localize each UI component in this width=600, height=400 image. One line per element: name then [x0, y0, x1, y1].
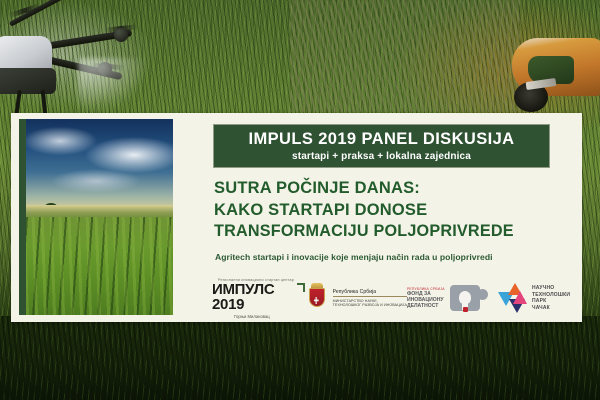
- impuls-wordmark: ИМПУЛС 2019: [212, 282, 295, 312]
- ministry-text: Република Србија МИНИСТАРСТВО НАУКЕ, ТЕХ…: [333, 289, 407, 307]
- ntp-line-4: ЧАЧАК: [532, 305, 570, 312]
- ministry-line-3: ТЕХНОЛОШКОГ РАЗВОЈА И ИНОВАЦИЈА: [333, 303, 407, 307]
- spraying-drone-icon: [0, 6, 154, 106]
- drone-tank: [0, 68, 56, 94]
- headline-line-2: KAKO STARTAPI DONOSE: [214, 199, 564, 221]
- fund-text: РЕПУБЛИКА СРБИЈА ФОНД ЗА ИНОВАЦИОНУ ДЕЛА…: [407, 287, 445, 310]
- ntp-triangles-icon: [498, 283, 528, 313]
- logo-innovation-fund: РЕПУБЛИКА СРБИЈА ФОНД ЗА ИНОВАЦИОНУ ДЕЛА…: [407, 283, 498, 313]
- puzzle-knob-icon: [477, 289, 488, 300]
- logo-ministry-of-science: Република Србија МИНИСТАРСТВО НАУКЕ, ТЕХ…: [305, 283, 407, 313]
- serbia-coat-of-arms-icon: [305, 283, 329, 313]
- red-square-icon: [463, 307, 468, 312]
- drone-motor: [114, 28, 128, 42]
- poster-card: IMPULS 2019 PANEL DISKUSIJA startapi + p…: [11, 113, 582, 322]
- headline: SUTRA POČINJE DANAS: KAKO STARTAPI DONOS…: [214, 177, 564, 243]
- tagline: Agritech startapi i inovacije koje menja…: [215, 252, 493, 262]
- fund-line-3: ДЕЛАТНОСТ: [407, 303, 445, 309]
- sponsor-logo-strip: Регионални иновациони стартап центар ИМП…: [208, 276, 576, 320]
- photo-crop-rows: [26, 217, 173, 315]
- headline-line-3: TRANSFORMACIJU POLJOPRIVREDE: [214, 221, 564, 243]
- logo-ntp-cacak: НАУЧНО ТЕХНОЛОШКИ ПАРК ЧАЧАК: [498, 283, 576, 313]
- impuls-city-text: Горњи Милановац: [234, 314, 270, 319]
- ntp-text: НАУЧНО ТЕХНОЛОШКИ ПАРК ЧАЧАК: [532, 285, 570, 311]
- drone-spray-mist: [78, 58, 148, 114]
- poster-content: IMPULS 2019 PANEL DISKUSIJA startapi + p…: [202, 113, 582, 322]
- banner-subtitle: startapi + praksa + lokalna zajednica: [292, 151, 471, 162]
- headline-line-1: SUTRA POČINJE DANAS:: [214, 177, 564, 199]
- foreground-grass: [0, 316, 600, 400]
- impuls-corner-icon: [297, 283, 305, 292]
- banner-title: IMPULS 2019 PANEL DISKUSIJA: [248, 131, 514, 148]
- event-banner: IMPULS 2019 PANEL DISKUSIJA startapi + p…: [213, 124, 550, 168]
- impuls-wordmark-row: ИМПУЛС 2019: [212, 282, 305, 312]
- field-photo: [19, 119, 173, 315]
- logo-impuls-2019: Регионални иновациони стартап центар ИМП…: [208, 278, 305, 319]
- puzzle-lightbulb-icon: [450, 283, 484, 313]
- poster: IMPULS 2019 PANEL DISKUSIJA startapi + p…: [0, 0, 600, 400]
- ntp-triangle-pink: [513, 291, 527, 304]
- tractor-icon: [484, 34, 600, 114]
- ministry-line-1: Република Србија: [333, 289, 407, 297]
